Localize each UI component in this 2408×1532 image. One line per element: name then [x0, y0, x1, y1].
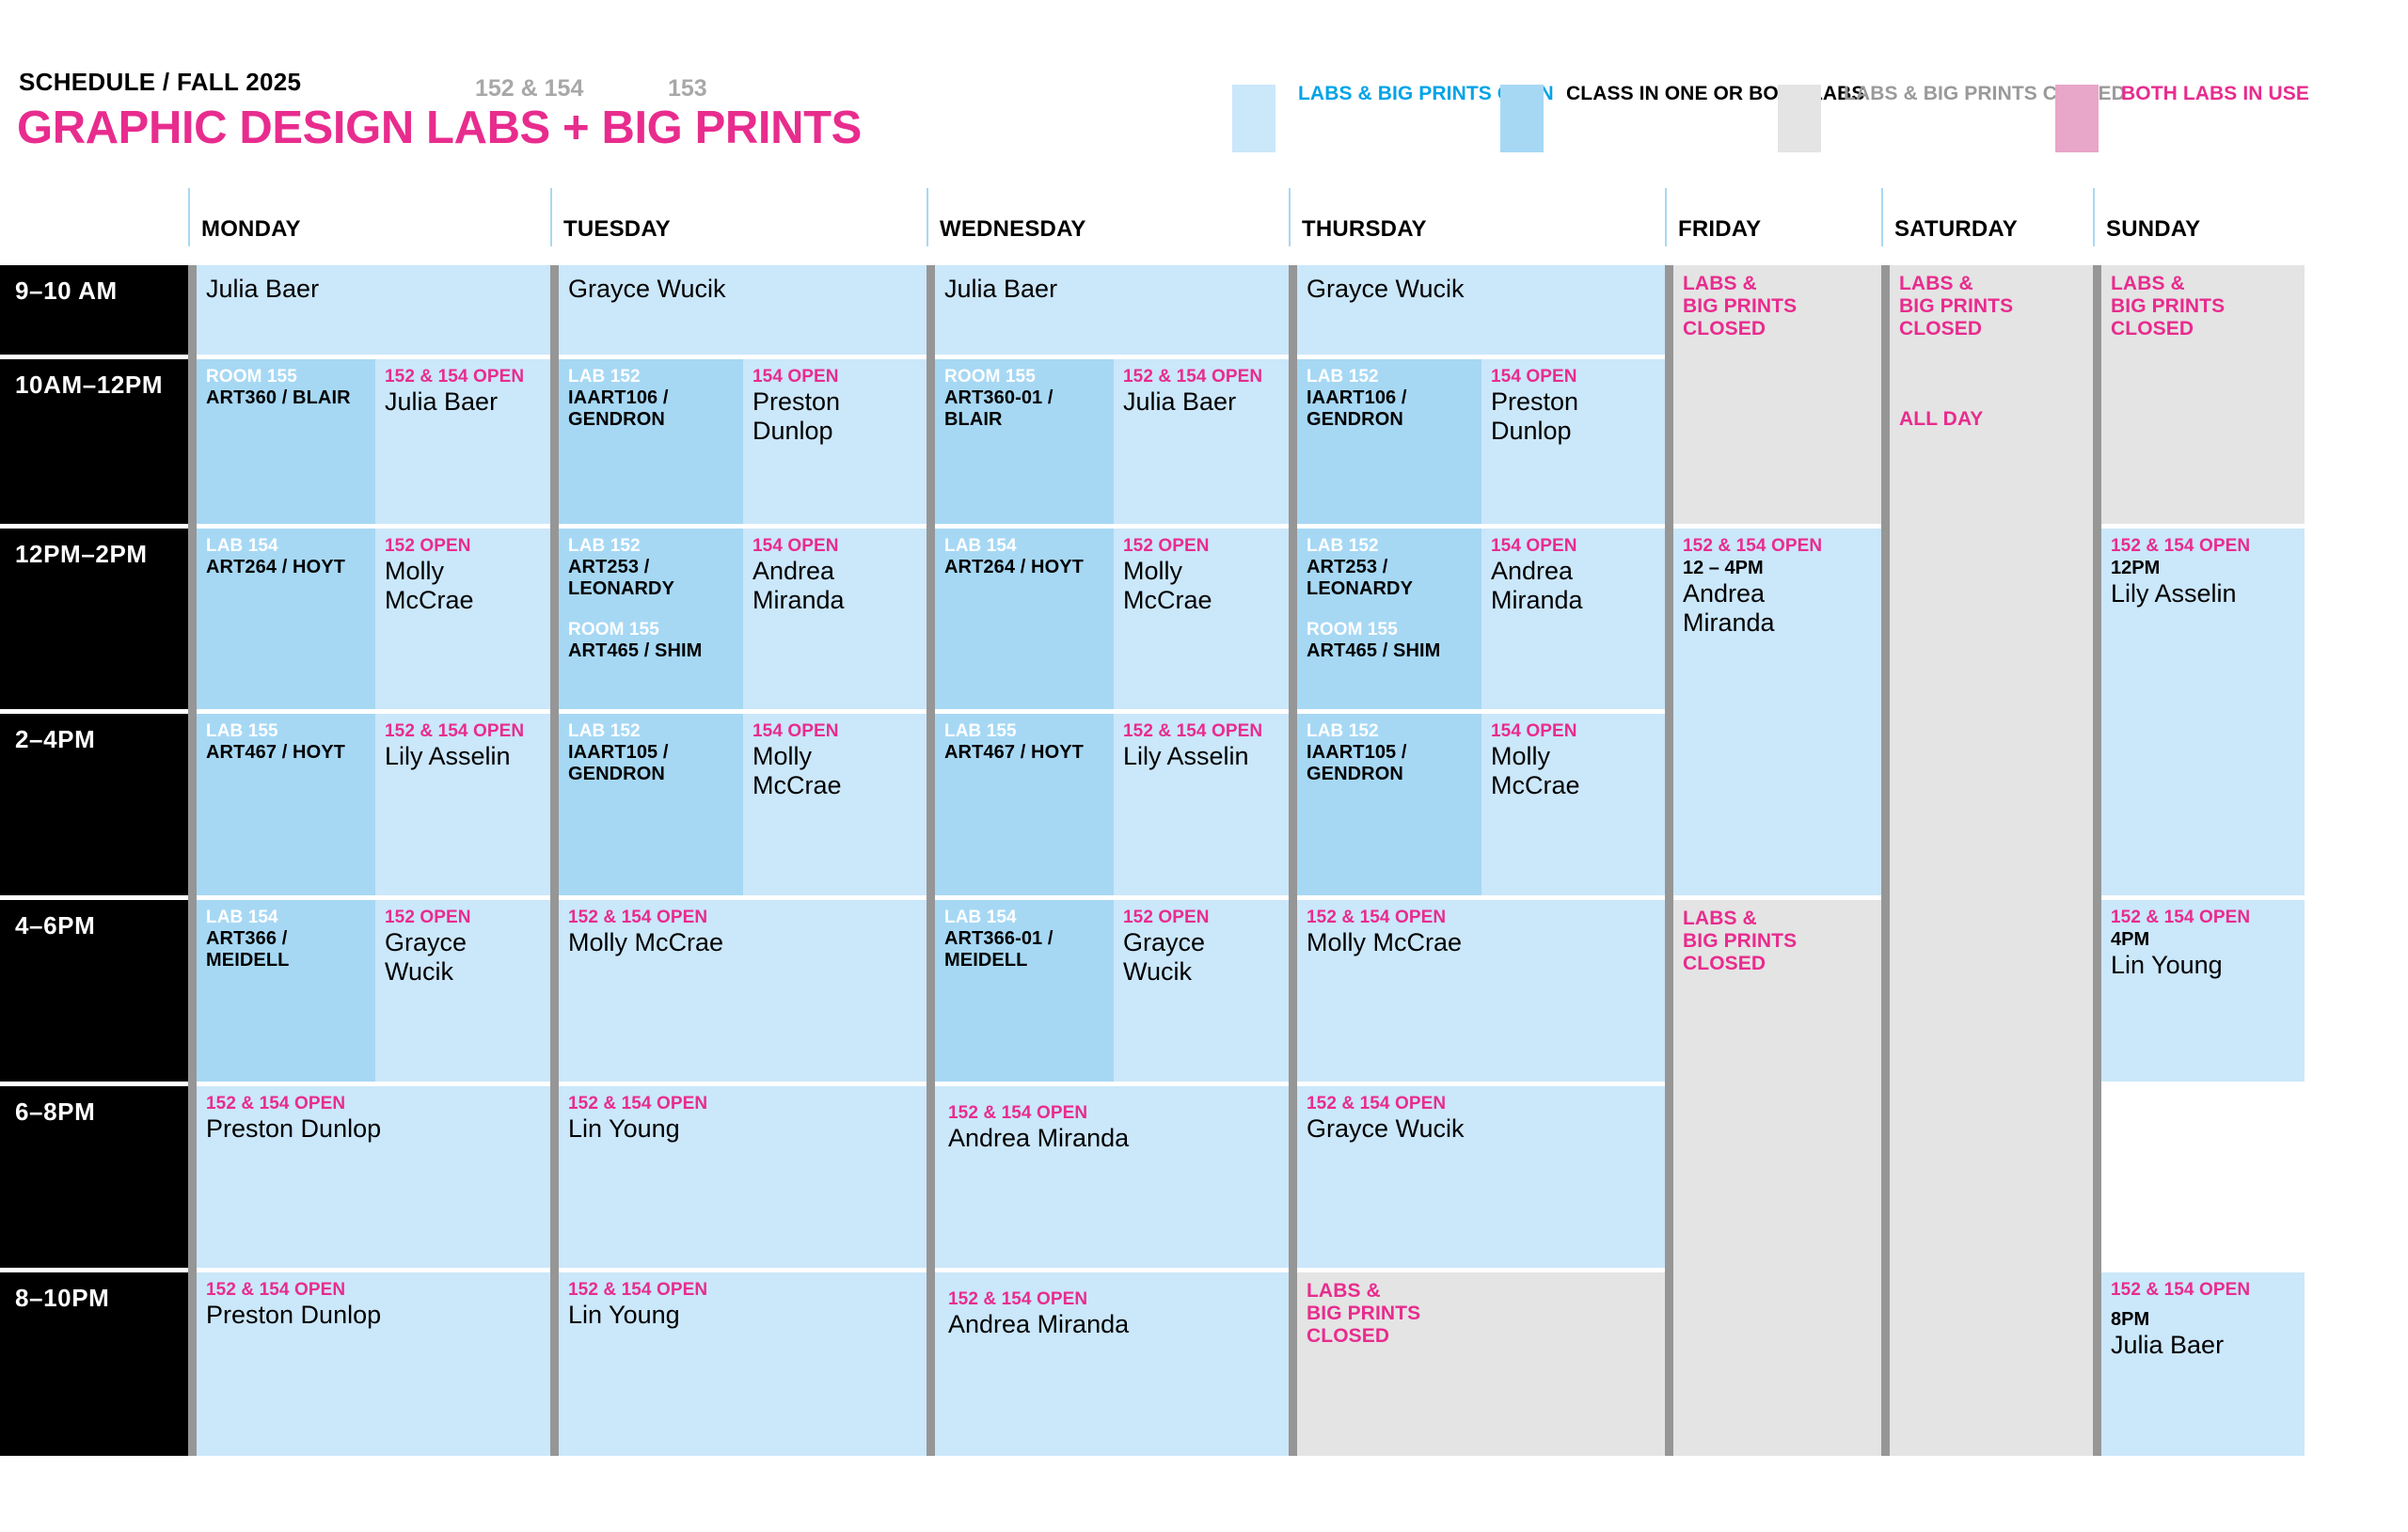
cell-monday-10am-class[interactable]: ROOM 155 ART360 / BLAIR: [197, 359, 375, 524]
cell-thursday-6pm-open[interactable]: 152 & 154 OPEN Grayce Wucik: [1297, 1086, 1665, 1268]
open-tag: 152 & 154 OPEN: [1307, 908, 1655, 928]
time-label-10am-12pm: 10AM–12PM: [0, 359, 188, 524]
day-header-wednesday: WEDNESDAY: [927, 188, 1289, 246]
cell-person: Preston Dunlop: [1491, 387, 1655, 446]
room-tag: LAB 155: [206, 721, 366, 742]
cell-thursday-12pm-class[interactable]: LAB 152 ART253 / LEONARDY ROOM 155 ART46…: [1297, 529, 1481, 709]
room-tag: LAB 154: [206, 536, 366, 557]
day-header-sunday: SUNDAY: [2093, 188, 2305, 246]
time-label-8pm-10pm: 8–10PM: [0, 1272, 188, 1456]
legend-label-in-use: BOTH LABS IN USE: [2121, 83, 2309, 104]
course-code: ART467 / HOYT: [944, 742, 1104, 764]
open-tag: 152 & 154 OPEN: [1123, 721, 1279, 742]
room-tag-2: ROOM 155: [1307, 620, 1472, 640]
cell-person: Julia Baer: [385, 387, 541, 417]
room-label-153: 153: [668, 75, 707, 103]
open-tag: 152 & 154 OPEN: [206, 1094, 541, 1114]
time-note: 4PM: [2111, 928, 2295, 951]
closed-note: LABS & BIG PRINTS CLOSED: [1683, 273, 1872, 340]
cell-tuesday-10am-open[interactable]: 154 OPEN Preston Dunlop: [743, 359, 927, 524]
open-tag: 152 & 154 OPEN: [948, 1289, 1279, 1310]
cell-monday-2pm-open[interactable]: 152 & 154 OPEN Lily Asselin: [375, 714, 550, 895]
cell-person: Molly McCrae: [1491, 742, 1655, 800]
legend-swatch-closed: [1778, 85, 1821, 152]
day-separator-saturday: [1881, 265, 1890, 1456]
time-note: 12 – 4PM: [1683, 557, 1872, 579]
time-note: 12PM: [2111, 557, 2295, 579]
cell-thursday-8pm-closed[interactable]: LABS & BIG PRINTS CLOSED: [1297, 1272, 1665, 1456]
open-tag: 154 OPEN: [752, 721, 917, 742]
cell-monday-10am-open[interactable]: 152 & 154 OPEN Julia Baer: [375, 359, 550, 524]
cell-tuesday-4pm-open[interactable]: 152 & 154 OPEN Molly McCrae: [559, 900, 927, 1082]
open-tag: 152 & 154 OPEN: [1683, 536, 1872, 557]
cell-person: Grayce Wucik: [1123, 928, 1279, 987]
course-code: ART366-01 / MEIDELL: [944, 928, 1104, 971]
cell-monday-12pm-class[interactable]: LAB 154 ART264 / HOYT: [197, 529, 375, 709]
day-separator-friday: [1665, 265, 1673, 1456]
cell-person: Preston Dunlop: [752, 387, 917, 446]
open-tag: 152 OPEN: [1123, 908, 1279, 928]
cell-thursday-2pm-class[interactable]: LAB 152 IAART105 / GENDRON: [1297, 714, 1481, 895]
open-tag: 152 OPEN: [385, 908, 541, 928]
time-note: 8PM: [2111, 1308, 2295, 1331]
time-label-6pm-8pm: 6–8PM: [0, 1086, 188, 1268]
open-tag: 152 & 154 OPEN: [1307, 1094, 1655, 1114]
cell-wednesday-8pm-open[interactable]: 152 & 154 OPEN Andrea Miranda: [935, 1272, 1289, 1456]
cell-thursday-10am-class[interactable]: LAB 152 IAART106 / GENDRON: [1297, 359, 1481, 524]
course-code: IAART105 / GENDRON: [568, 742, 734, 785]
cell-monday-4pm-class[interactable]: LAB 154 ART366 / MEIDELL: [197, 900, 375, 1082]
day-header-tuesday: TUESDAY: [550, 188, 927, 246]
page-header: SCHEDULE / FALL 2025 GRAPHIC DESIGN LABS…: [0, 0, 2408, 179]
room-tag: LAB 152: [1307, 536, 1472, 557]
legend-swatch-open: [1232, 85, 1275, 152]
time-label-12pm-2pm: 12PM–2PM: [0, 529, 188, 709]
open-tag: 154 OPEN: [1491, 367, 1655, 387]
cell-person: Molly McCrae: [1123, 557, 1279, 615]
open-tag: 152 & 154 OPEN: [568, 1280, 917, 1301]
day-header-monday: MONDAY: [188, 188, 550, 246]
time-label-9-10am: 9–10 AM: [0, 265, 188, 355]
all-day-note: ALL DAY: [1899, 408, 2083, 431]
room-tag: LAB 154: [944, 908, 1104, 928]
schedule-grid: MONDAY TUESDAY WEDNESDAY THURSDAY FRIDAY…: [0, 188, 2408, 1505]
day-separator-tuesday: [550, 265, 559, 1456]
cell-person: Preston Dunlop: [206, 1114, 541, 1144]
cell-tuesday-12pm-open[interactable]: 154 OPEN Andrea Miranda: [743, 529, 927, 709]
day-separator-thursday: [1289, 265, 1297, 1456]
cell-person: Grayce Wucik: [568, 275, 917, 304]
closed-note: LABS & BIG PRINTS CLOSED: [2111, 273, 2295, 340]
cell-friday-12pm-open[interactable]: 152 & 154 OPEN 12 – 4PM Andrea Miranda: [1673, 529, 1881, 895]
open-tag: 152 & 154 OPEN: [2111, 1280, 2295, 1301]
course-code: ART366 / MEIDELL: [206, 928, 366, 971]
open-tag: 152 OPEN: [385, 536, 541, 557]
cell-thursday-10am-open[interactable]: 154 OPEN Preston Dunlop: [1481, 359, 1665, 524]
cell-person: Julia Baer: [1123, 387, 1279, 417]
open-tag: 152 & 154 OPEN: [206, 1280, 541, 1301]
course-code: ART264 / HOYT: [944, 557, 1104, 578]
cell-person: Julia Baer: [2111, 1331, 2295, 1360]
day-header-saturday: SATURDAY: [1881, 188, 2093, 246]
cell-wednesday-4pm-open[interactable]: 152 OPEN Grayce Wucik: [1114, 900, 1289, 1082]
cell-person: Andrea Miranda: [948, 1124, 1279, 1153]
time-label-4pm-6pm: 4–6PM: [0, 900, 188, 1082]
cell-wednesday-2pm-class[interactable]: LAB 155 ART467 / HOYT: [935, 714, 1114, 895]
cell-monday-4pm-open[interactable]: 152 OPEN Grayce Wucik: [375, 900, 550, 1082]
open-tag: 152 & 154 OPEN: [2111, 536, 2295, 557]
closed-note: LABS & BIG PRINTS CLOSED: [1683, 908, 1872, 975]
open-tag: 154 OPEN: [752, 367, 917, 387]
course-code-2: ART465 / SHIM: [1307, 640, 1472, 662]
day-header-thursday: THURSDAY: [1289, 188, 1665, 246]
cell-wednesday-6pm-open[interactable]: 152 & 154 OPEN Andrea Miranda: [935, 1086, 1289, 1268]
open-tag: 154 OPEN: [1491, 721, 1655, 742]
cell-person: Julia Baer: [206, 275, 541, 304]
cell-person: Molly McCrae: [568, 928, 917, 957]
cell-wednesday-10am-open[interactable]: 152 & 154 OPEN Julia Baer: [1114, 359, 1289, 524]
course-code: ART360-01 / BLAIR: [944, 387, 1104, 431]
cell-tuesday-2pm-open[interactable]: 154 OPEN Molly McCrae: [743, 714, 927, 895]
room-tag: ROOM 155: [944, 367, 1104, 387]
schedule-kicker: SCHEDULE / FALL 2025: [19, 68, 301, 97]
room-tag: LAB 155: [944, 721, 1104, 742]
cell-thursday-12pm-open[interactable]: 154 OPEN Andrea Miranda: [1481, 529, 1665, 709]
cell-tuesday-12pm-class[interactable]: LAB 152 ART253 / LEONARDY ROOM 155 ART46…: [559, 529, 743, 709]
open-tag: 152 & 154 OPEN: [2111, 908, 2295, 928]
cell-person: Lily Asselin: [385, 742, 541, 771]
room-tag: ROOM 155: [206, 367, 366, 387]
cell-person: Lin Young: [2111, 951, 2295, 980]
cell-wednesday-12pm-open[interactable]: 152 OPEN Molly McCrae: [1114, 529, 1289, 709]
time-label-2pm-4pm: 2–4PM: [0, 714, 188, 895]
cell-person: Grayce Wucik: [1307, 275, 1655, 304]
legend-swatch-in-use: [2055, 85, 2099, 152]
course-code-2: ART465 / SHIM: [568, 640, 734, 662]
course-code: IAART106 / GENDRON: [568, 387, 734, 431]
room-tag: LAB 152: [568, 367, 734, 387]
cell-wednesday-10am-class[interactable]: ROOM 155 ART360-01 / BLAIR: [935, 359, 1114, 524]
cell-person: Preston Dunlop: [206, 1301, 541, 1330]
cell-tuesday-10am-class[interactable]: LAB 152 IAART106 / GENDRON: [559, 359, 743, 524]
open-tag: 152 & 154 OPEN: [568, 1094, 917, 1114]
cell-person: Andrea Miranda: [1683, 579, 1872, 638]
cell-monday-2pm-class[interactable]: LAB 155 ART467 / HOYT: [197, 714, 375, 895]
cell-person: Andrea Miranda: [1491, 557, 1655, 615]
room-tag: LAB 152: [1307, 721, 1472, 742]
cell-sunday-12pm-open[interactable]: 152 & 154 OPEN 12PM Lily Asselin: [2101, 529, 2305, 895]
cell-person: Grayce Wucik: [385, 928, 541, 987]
cell-sunday-8pm-open[interactable]: 152 & 154 OPEN 8PM Julia Baer: [2101, 1272, 2305, 1456]
closed-note: LABS & BIG PRINTS CLOSED: [1307, 1280, 1655, 1348]
room-tag: LAB 152: [568, 721, 734, 742]
open-tag: 152 & 154 OPEN: [948, 1103, 1279, 1124]
course-code: IAART105 / GENDRON: [1307, 742, 1472, 785]
cell-person: Lily Asselin: [2111, 579, 2295, 608]
day-separator-monday: [188, 265, 197, 1456]
cell-person: Andrea Miranda: [948, 1310, 1279, 1339]
cell-person: Molly McCrae: [1307, 928, 1655, 957]
day-separator-sunday: [2093, 265, 2101, 1456]
open-tag: 154 OPEN: [1491, 536, 1655, 557]
cell-person: Lily Asselin: [1123, 742, 1279, 771]
room-tag: LAB 152: [568, 536, 734, 557]
cell-tuesday-2pm-class[interactable]: LAB 152 IAART105 / GENDRON: [559, 714, 743, 895]
cell-tuesday-6pm-open[interactable]: 152 & 154 OPEN Lin Young: [559, 1086, 927, 1268]
cell-monday-9-10am[interactable]: Julia Baer: [197, 265, 550, 355]
cell-thursday-9-10am[interactable]: Grayce Wucik: [1297, 265, 1665, 355]
course-code: ART360 / BLAIR: [206, 387, 366, 409]
cell-wednesday-9-10am[interactable]: Julia Baer: [935, 265, 1289, 355]
open-tag: 152 & 154 OPEN: [385, 721, 541, 742]
cell-monday-6pm-open[interactable]: 152 & 154 OPEN Preston Dunlop: [197, 1086, 550, 1268]
cell-monday-12pm-open[interactable]: 152 OPEN Molly McCrae: [375, 529, 550, 709]
cell-saturday-closed[interactable]: LABS & BIG PRINTS CLOSED ALL DAY: [1890, 265, 2093, 1456]
cell-wednesday-2pm-open[interactable]: 152 & 154 OPEN Lily Asselin: [1114, 714, 1289, 895]
cell-person: Julia Baer: [944, 275, 1279, 304]
cell-tuesday-9-10am[interactable]: Grayce Wucik: [559, 265, 927, 355]
course-code: IAART106 / GENDRON: [1307, 387, 1472, 431]
course-code: ART467 / HOYT: [206, 742, 366, 764]
day-header-friday: FRIDAY: [1665, 188, 1881, 246]
page-title: GRAPHIC DESIGN LABS + BIG PRINTS: [17, 102, 862, 154]
room-tag-2: ROOM 155: [568, 620, 734, 640]
cell-person: Grayce Wucik: [1307, 1114, 1655, 1144]
day-separator-wednesday: [927, 265, 935, 1456]
room-tag: LAB 154: [206, 908, 366, 928]
cell-person: Molly McCrae: [752, 742, 917, 800]
open-tag: 152 & 154 OPEN: [1123, 367, 1279, 387]
course-code: ART253 / LEONARDY: [1307, 557, 1472, 600]
cell-monday-8pm-open[interactable]: 152 & 154 OPEN Preston Dunlop: [197, 1272, 550, 1456]
room-tag: LAB 152: [1307, 367, 1472, 387]
cell-wednesday-12pm-class[interactable]: LAB 154 ART264 / HOYT: [935, 529, 1114, 709]
cell-thursday-4pm-open[interactable]: 152 & 154 OPEN Molly McCrae: [1297, 900, 1665, 1082]
room-label-152-154: 152 & 154: [475, 75, 583, 103]
cell-person: Lin Young: [568, 1301, 917, 1330]
legend-swatch-class: [1500, 85, 1544, 152]
open-tag: 152 & 154 OPEN: [568, 908, 917, 928]
cell-person: Molly McCrae: [385, 557, 541, 615]
cell-friday-4pm-closed[interactable]: LABS & BIG PRINTS CLOSED: [1673, 900, 1881, 1456]
cell-friday-9am-closed[interactable]: LABS & BIG PRINTS CLOSED: [1673, 265, 1881, 524]
cell-thursday-2pm-open[interactable]: 154 OPEN Molly McCrae: [1481, 714, 1665, 895]
course-code: ART253 / LEONARDY: [568, 557, 734, 600]
cell-wednesday-4pm-class[interactable]: LAB 154 ART366-01 / MEIDELL: [935, 900, 1114, 1082]
closed-note: LABS & BIG PRINTS CLOSED: [1899, 273, 2083, 340]
cell-person: Andrea Miranda: [752, 557, 917, 615]
open-tag: 152 OPEN: [1123, 536, 1279, 557]
open-tag: 152 & 154 OPEN: [385, 367, 541, 387]
cell-sunday-9am-closed[interactable]: LABS & BIG PRINTS CLOSED: [2101, 265, 2305, 524]
open-tag: 154 OPEN: [752, 536, 917, 557]
cell-sunday-4pm-open[interactable]: 152 & 154 OPEN 4PM Lin Young: [2101, 900, 2305, 1082]
cell-person: Lin Young: [568, 1114, 917, 1144]
room-tag: LAB 154: [944, 536, 1104, 557]
cell-tuesday-8pm-open[interactable]: 152 & 154 OPEN Lin Young: [559, 1272, 927, 1456]
course-code: ART264 / HOYT: [206, 557, 366, 578]
